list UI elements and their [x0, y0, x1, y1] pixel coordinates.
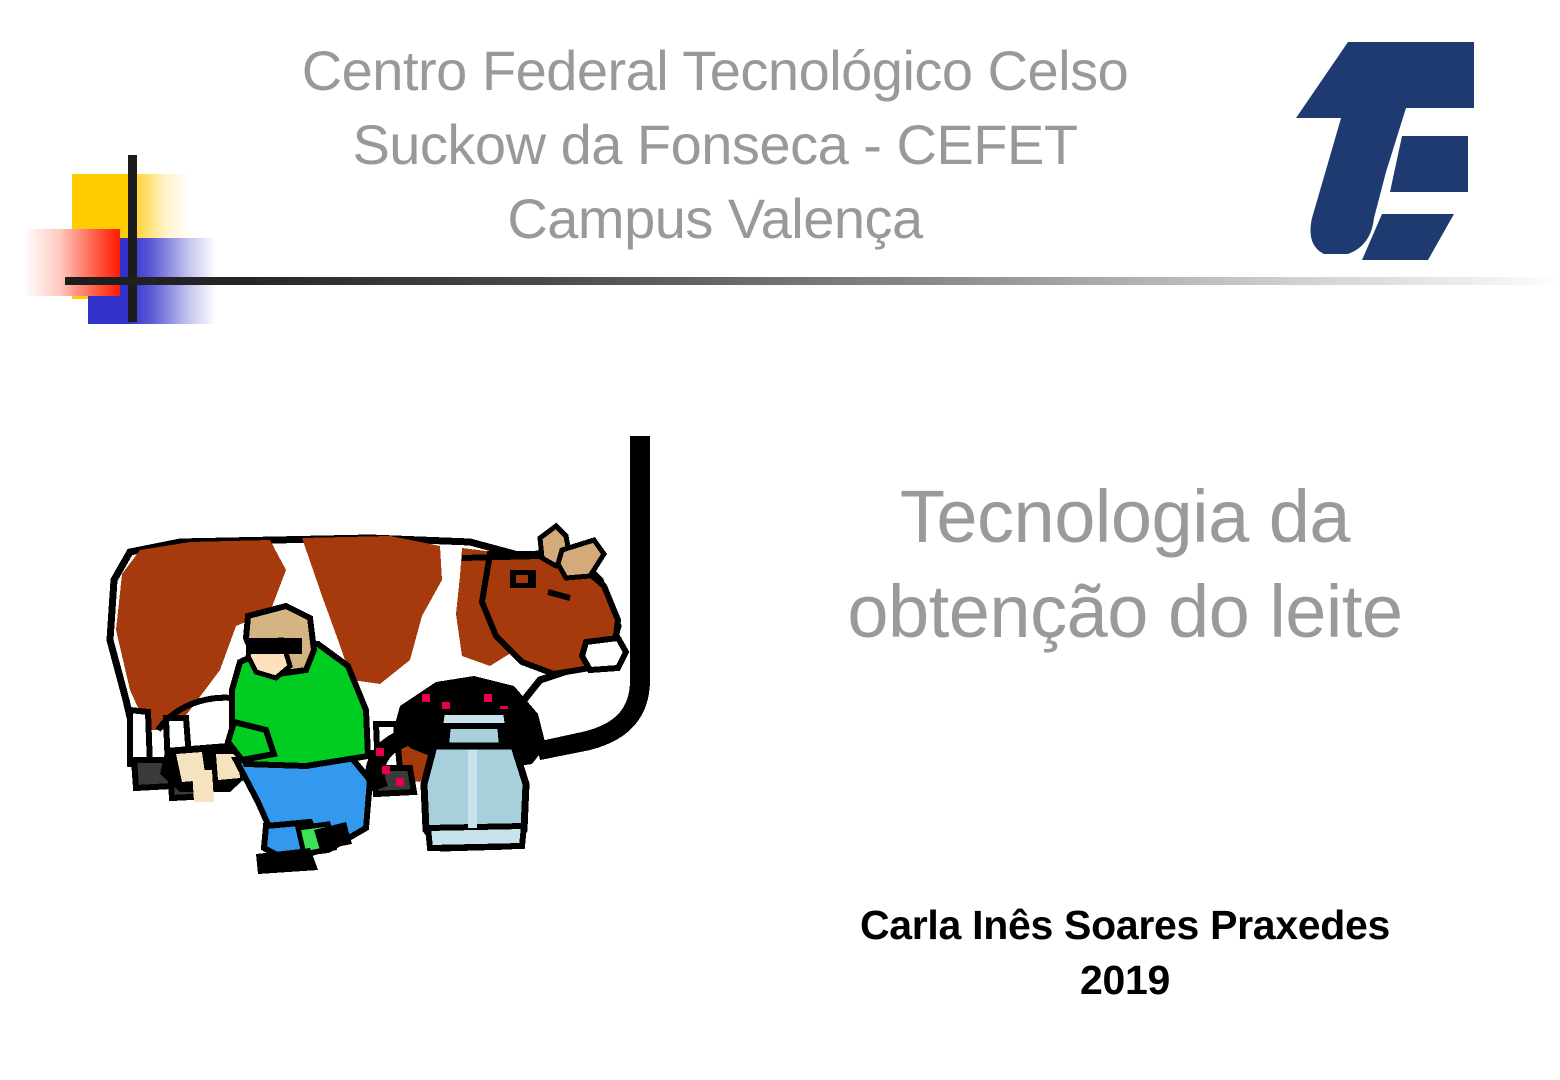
author-name: Carla Inês Soares Praxedes [860, 902, 1390, 948]
institution-header: Centro Federal Tecnológico Celso Suckow … [200, 34, 1230, 256]
cow-milking-clipart [70, 430, 670, 890]
vertical-rule [128, 155, 137, 322]
horizontal-rule [65, 277, 1560, 285]
presentation-slide: Centro Federal Tecnológico Celso Suckow … [0, 0, 1560, 1080]
red-square [23, 229, 120, 296]
cefet-logo [1278, 22, 1493, 270]
slide-title: Tecnologia da obtenção do leite [755, 470, 1495, 659]
author-year: 2019 [755, 953, 1495, 1008]
author-credit: Carla Inês Soares Praxedes 2019 [755, 898, 1495, 1007]
